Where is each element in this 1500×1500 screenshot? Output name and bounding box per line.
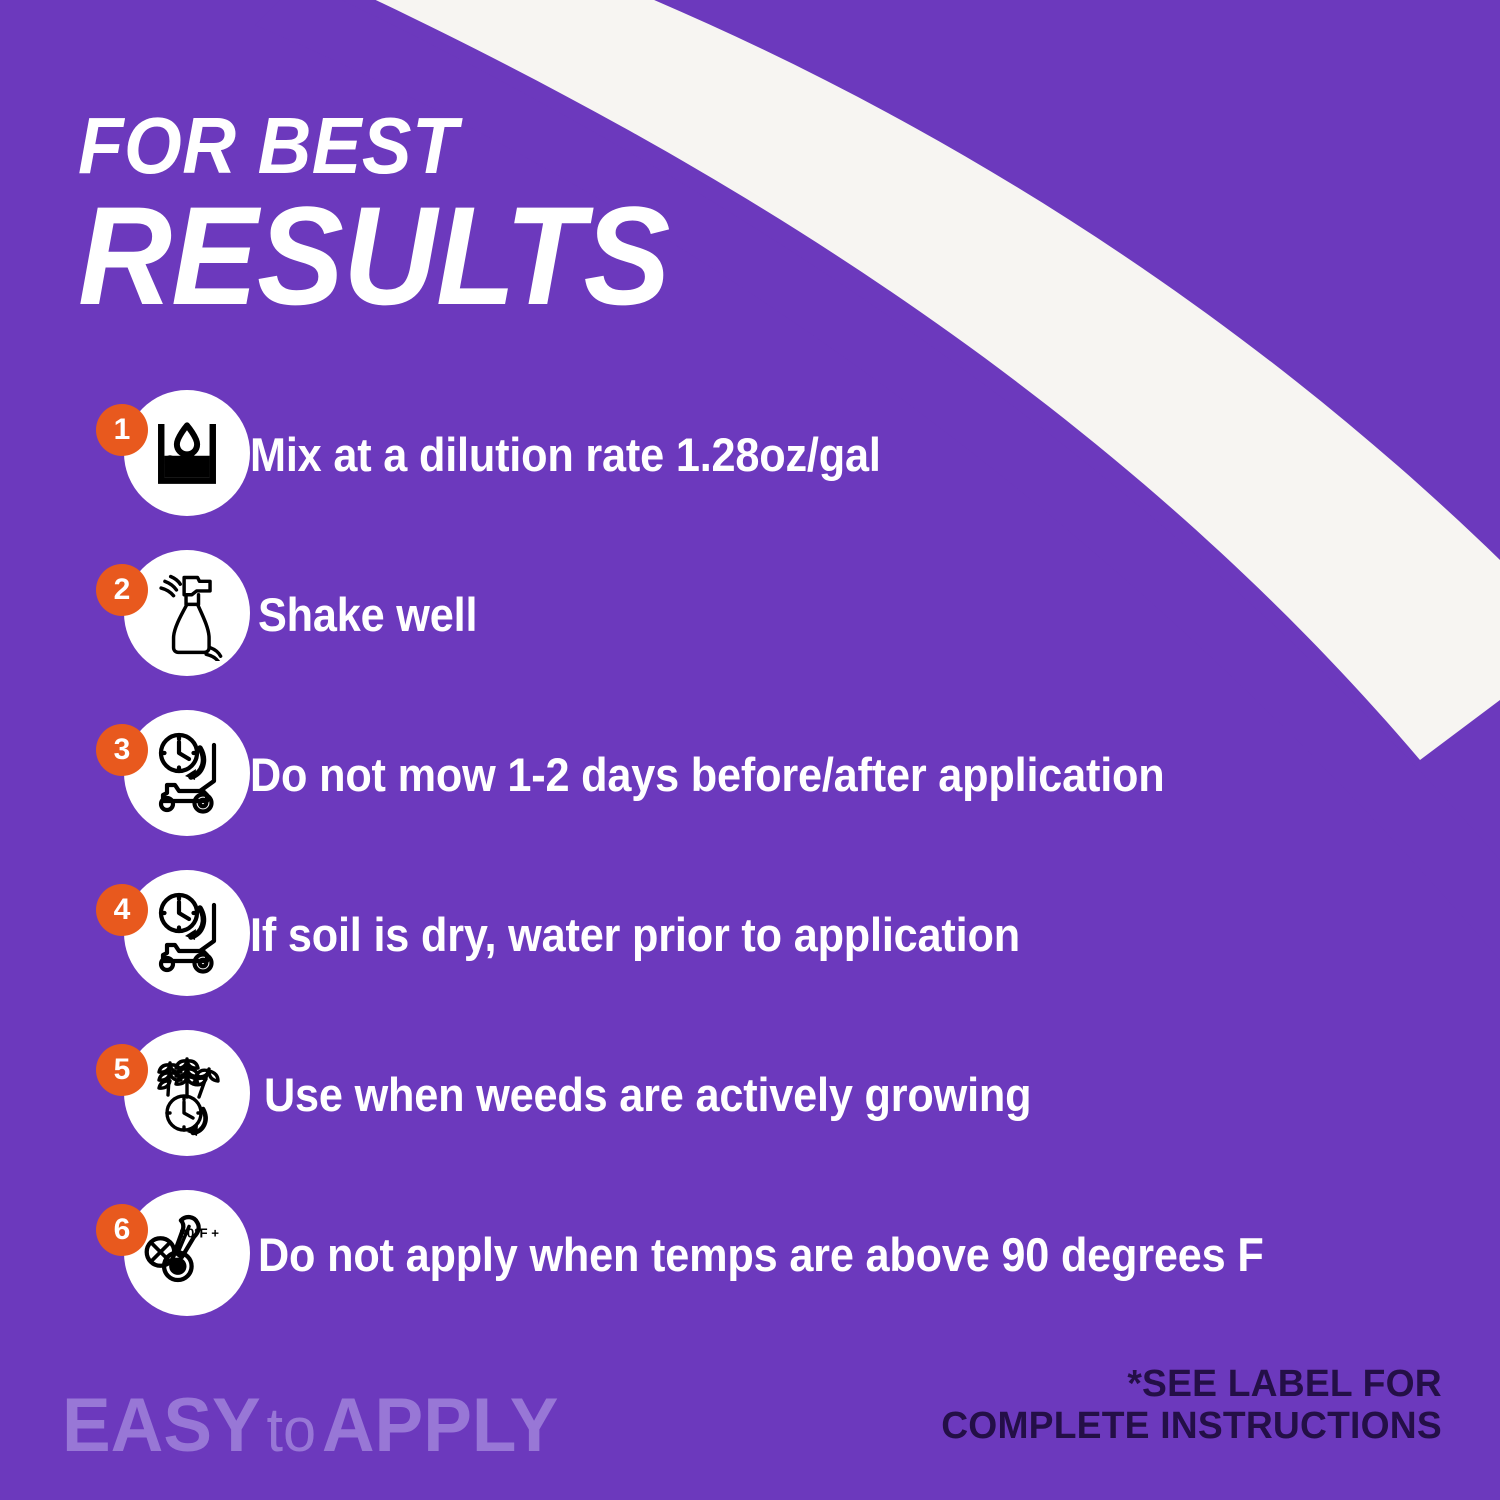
step-number-badge: 3 [96,724,148,776]
step-icon-wrap: 2 [96,548,228,680]
step-icon-wrap: 4 [96,868,228,1000]
easy-to-apply-tagline: EASYtoAPPLY [62,1388,558,1464]
disclaimer-line-1: *SEE LABEL FOR [941,1363,1442,1406]
step-number-badge: 4 [96,884,148,936]
page-title: FOR BEST RESULTS [78,108,714,322]
list-item: 1 Mix at a dilution rate 1.28oz/gal [96,388,1456,520]
step-number-badge: 5 [96,1044,148,1096]
step-label: If soil is dry, water prior to applicati… [250,907,1020,962]
beaker-with-droplet-icon [124,390,250,516]
list-item: 3 [96,708,1456,840]
temperature-label: 90°F + [179,1226,219,1241]
disclaimer-line-2: COMPLETE INSTRUCTIONS [941,1405,1442,1448]
tagline-easy: EASY [62,1383,261,1468]
step-label: Do not mow 1-2 days before/after applica… [250,747,1165,802]
list-item: 6 90°F + [96,1188,1456,1320]
thermometer-no-heat-icon: 90°F + [124,1190,250,1316]
step-label: Do not apply when temps are above 90 deg… [258,1227,1264,1282]
step-number-badge: 1 [96,404,148,456]
step-icon-wrap: 1 [96,388,228,520]
step-number-badge: 6 [96,1204,148,1256]
step-icon-wrap: 5 [96,1028,228,1160]
list-item: 2 Shake well [96,548,1456,680]
title-line-1: FOR BEST [78,108,669,185]
step-icon-wrap: 6 90°F + [96,1188,228,1320]
tagline-apply: APPLY [322,1383,559,1468]
title-line-2: RESULTS [78,189,669,322]
weeds-clock-icon [124,1030,250,1156]
lawn-mower-clock-icon [124,710,250,836]
step-number-badge: 2 [96,564,148,616]
instruction-steps-list: 1 Mix at a dilution rate 1.28oz/gal 2 [96,388,1456,1320]
step-label: Shake well [258,587,477,642]
tagline-to: to [261,1396,322,1465]
step-label: Use when weeds are actively growing [264,1067,1031,1122]
spray-bottle-shake-icon [124,550,250,676]
list-item: 4 [96,868,1456,1000]
for-best-results-infographic: FOR BEST RESULTS 1 Mix at a dilution rat… [0,0,1500,1500]
step-label: Mix at a dilution rate 1.28oz/gal [250,427,881,482]
step-icon-wrap: 3 [96,708,228,840]
lawn-mower-clock-icon [124,870,250,996]
see-label-disclaimer: *SEE LABEL FOR COMPLETE INSTRUCTIONS [941,1363,1442,1448]
list-item: 5 [96,1028,1456,1160]
